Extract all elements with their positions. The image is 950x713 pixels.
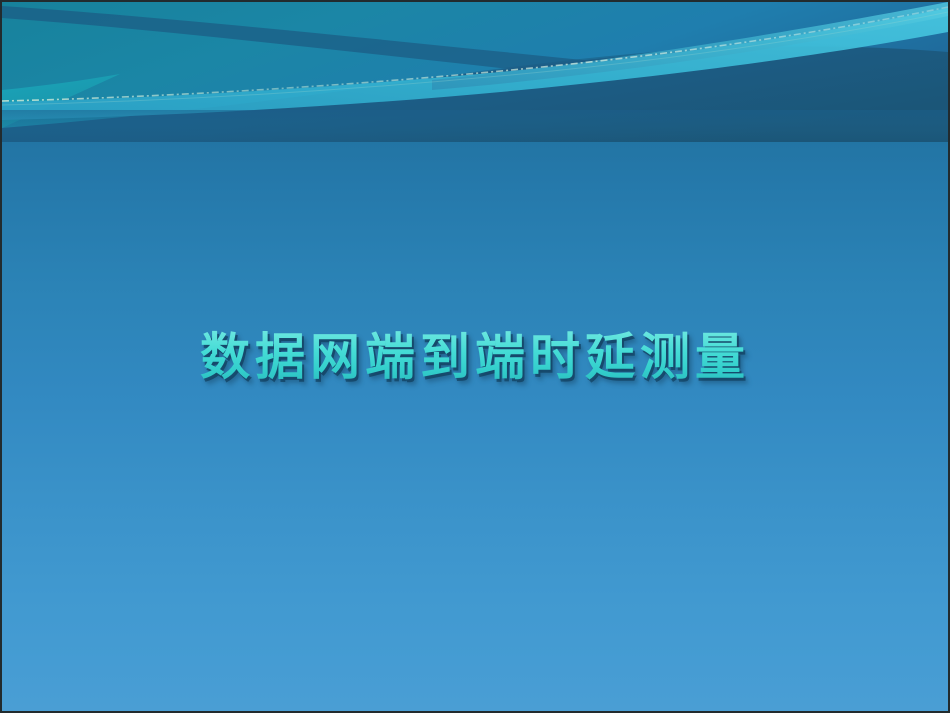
wave-cyan-ribbon-outer	[432, 2, 948, 90]
wave-teal-field	[2, 2, 948, 128]
wave-hairline	[2, 7, 948, 101]
wave-teal-wedge	[2, 74, 120, 128]
slide-title: 数据网端到端时延测量	[200, 329, 750, 387]
slide-title-block: 数据网端到端时延测量	[2, 329, 948, 387]
presentation-slide: 数据网端到端时延测量	[0, 0, 950, 713]
wave-cyan-ribbon	[2, 8, 948, 120]
wave-hairline-secondary	[2, 12, 948, 105]
decorative-wave-banner	[2, 2, 948, 142]
wave-fade	[2, 110, 948, 142]
wave-dark-mass	[2, 47, 948, 142]
wave-dark-band	[2, 6, 948, 102]
